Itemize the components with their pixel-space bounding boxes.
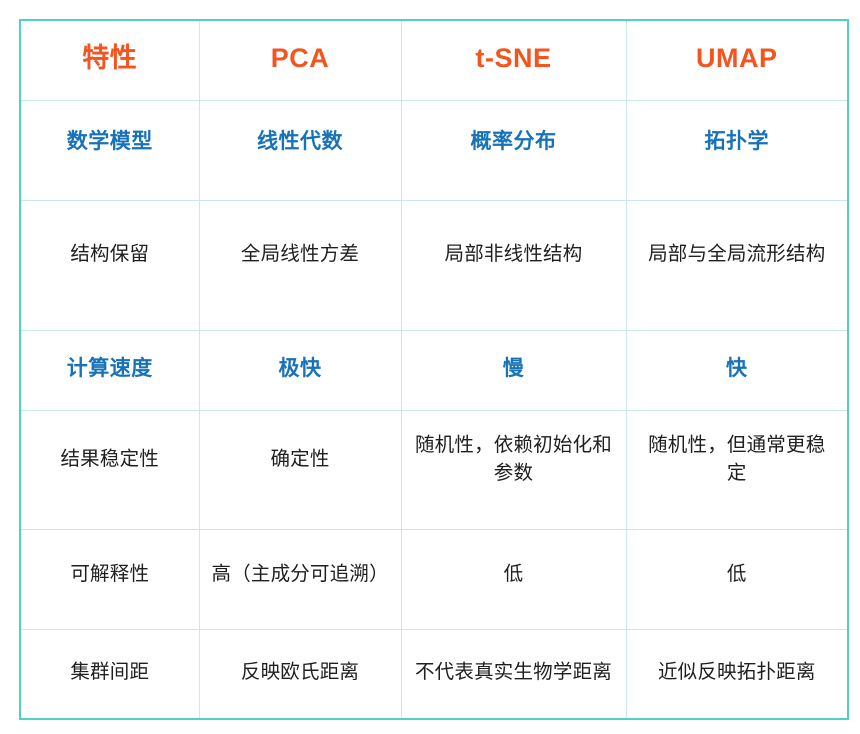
cell-text: 拓扑学 <box>639 127 836 157</box>
page-root: 特性 PCA t-SNE UMAP 数学模型 <box>0 0 860 734</box>
cell-text: 近似反映拓扑距离 <box>639 659 836 687</box>
column-header-tsne-label: t-SNE <box>414 39 614 77</box>
cell-stability-umap: 随机性，但通常更稳定 <box>626 410 848 529</box>
cell-text: 局部非线性结构 <box>414 241 614 269</box>
table-row-structure-preservation: 结构保留 全局线性方差 局部非线性结构 局部与全局流形结构 <box>20 200 848 330</box>
cell-speed-feature: 计算速度 <box>20 330 199 410</box>
table-row-compute-speed: 计算速度 极快 慢 快 <box>20 330 848 410</box>
table-row-result-stability: 结果稳定性 确定性 随机性，依赖初始化和参数 随机性，但通常更稳定 <box>20 410 848 529</box>
cell-speed-pca: 极快 <box>199 330 401 410</box>
cell-text: 可解释性 <box>33 561 187 589</box>
cell-text: 计算速度 <box>33 354 187 384</box>
column-header-feature-label: 特性 <box>33 39 187 77</box>
cell-math-model-pca: 线性代数 <box>199 100 401 200</box>
cell-structure-feature: 结构保留 <box>20 200 199 330</box>
cell-interp-pca: 高（主成分可追溯） <box>199 529 401 629</box>
cell-text: 低 <box>414 561 614 589</box>
cell-interp-tsne: 低 <box>401 529 626 629</box>
cell-distance-tsne: 不代表真实生物学距离 <box>401 629 626 719</box>
table-row-math-model: 数学模型 线性代数 概率分布 拓扑学 <box>20 100 848 200</box>
cell-text: 极快 <box>212 354 389 384</box>
cell-text: 随机性，依赖初始化和参数 <box>414 432 614 487</box>
cell-interp-umap: 低 <box>626 529 848 629</box>
cell-text: 低 <box>639 561 836 589</box>
cell-text: 局部与全局流形结构 <box>639 241 836 269</box>
table-row-cluster-distance: 集群间距 反映欧氏距离 不代表真实生物学距离 近似反映拓扑距离 <box>20 629 848 719</box>
cell-text: 快 <box>639 354 836 384</box>
column-header-tsne: t-SNE <box>401 20 626 100</box>
column-header-pca-label: PCA <box>212 39 389 77</box>
cell-stability-tsne: 随机性，依赖初始化和参数 <box>401 410 626 529</box>
cell-text: 结构保留 <box>33 241 187 269</box>
cell-text: 慢 <box>414 354 614 384</box>
cell-text: 高（主成分可追溯） <box>212 561 389 589</box>
column-header-umap-label: UMAP <box>639 39 836 77</box>
cell-structure-tsne: 局部非线性结构 <box>401 200 626 330</box>
cell-structure-umap: 局部与全局流形结构 <box>626 200 848 330</box>
cell-text: 结果稳定性 <box>33 446 187 474</box>
cell-math-model-feature: 数学模型 <box>20 100 199 200</box>
table-body: 数学模型 线性代数 概率分布 拓扑学 结构保留 <box>20 100 848 719</box>
cell-text: 确定性 <box>212 446 389 474</box>
cell-text: 全局线性方差 <box>212 241 389 269</box>
cell-text: 线性代数 <box>212 127 389 157</box>
cell-text: 概率分布 <box>414 127 614 157</box>
cell-structure-pca: 全局线性方差 <box>199 200 401 330</box>
table-row-interpretability: 可解释性 高（主成分可追溯） 低 低 <box>20 529 848 629</box>
cell-math-model-tsne: 概率分布 <box>401 100 626 200</box>
cell-text: 集群间距 <box>33 659 187 687</box>
table-header: 特性 PCA t-SNE UMAP <box>20 20 848 100</box>
cell-speed-tsne: 慢 <box>401 330 626 410</box>
column-header-feature: 特性 <box>20 20 199 100</box>
cell-interp-feature: 可解释性 <box>20 529 199 629</box>
cell-math-model-umap: 拓扑学 <box>626 100 848 200</box>
cell-text: 随机性，但通常更稳定 <box>639 432 836 487</box>
cell-distance-pca: 反映欧氏距离 <box>199 629 401 719</box>
cell-stability-pca: 确定性 <box>199 410 401 529</box>
cell-text: 数学模型 <box>33 127 187 157</box>
cell-distance-feature: 集群间距 <box>20 629 199 719</box>
column-header-pca: PCA <box>199 20 401 100</box>
table-header-row: 特性 PCA t-SNE UMAP <box>20 20 848 100</box>
comparison-table: 特性 PCA t-SNE UMAP 数学模型 <box>19 19 849 720</box>
cell-stability-feature: 结果稳定性 <box>20 410 199 529</box>
cell-distance-umap: 近似反映拓扑距离 <box>626 629 848 719</box>
comparison-table-container: 特性 PCA t-SNE UMAP 数学模型 <box>19 19 847 719</box>
column-header-umap: UMAP <box>626 20 848 100</box>
cell-text: 反映欧氏距离 <box>212 659 389 687</box>
cell-speed-umap: 快 <box>626 330 848 410</box>
cell-text: 不代表真实生物学距离 <box>414 659 614 687</box>
